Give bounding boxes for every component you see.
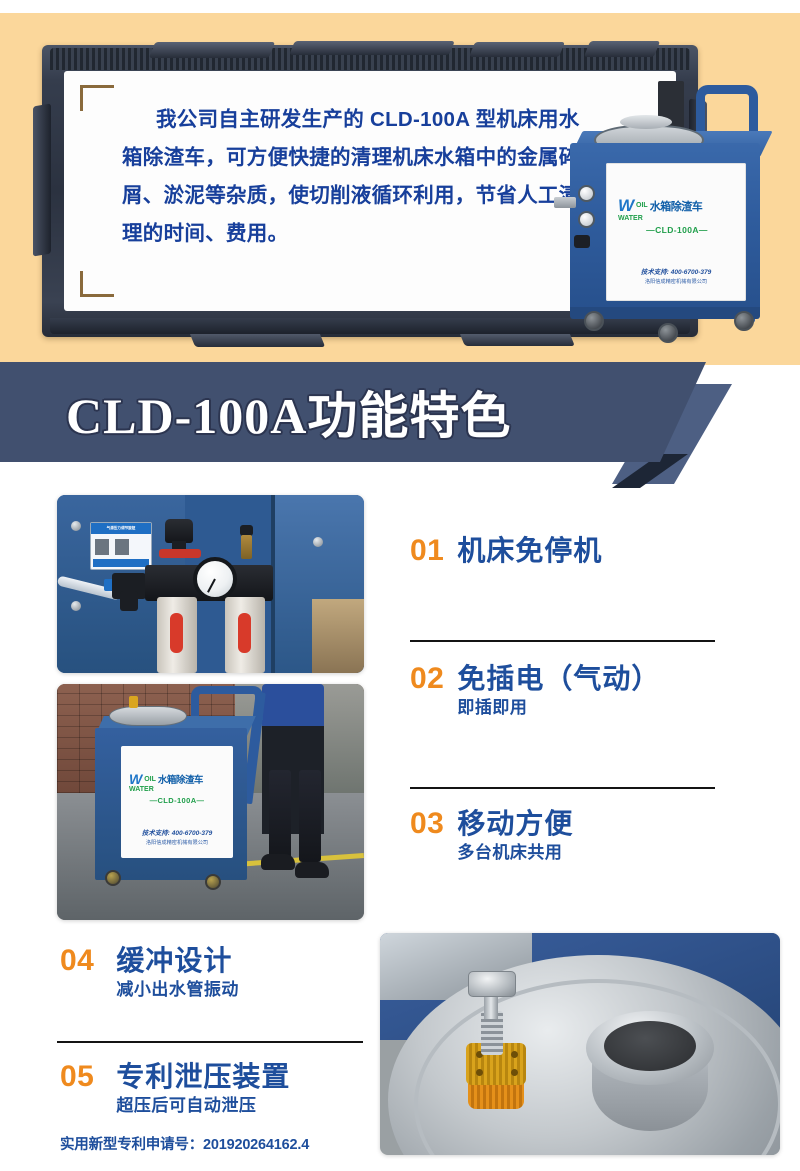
machine-brand-label: W OIL 水箱除渣车 WATER CLD-100A 技术支持: 400-670… bbox=[606, 163, 746, 301]
instruction-sticker: 气源压力调节旋钮 bbox=[90, 522, 152, 570]
section-title-banner: CLD-100A功能特色 bbox=[0, 362, 800, 484]
tank-lid-cap bbox=[620, 115, 672, 129]
support-phone-text: 技术支持: 400-6700-379 bbox=[606, 266, 746, 276]
frame-greeble-icon bbox=[149, 42, 275, 58]
feature-title: 移动方便 bbox=[457, 809, 573, 838]
pressure-gauge-icon bbox=[578, 211, 595, 228]
features-section: 气源压力调节旋钮 bbox=[0, 484, 800, 1171]
pressure-gauge-icon bbox=[578, 185, 595, 202]
frame-greeble-icon bbox=[584, 41, 660, 57]
frame-greeble-icon bbox=[189, 331, 325, 347]
caster-wheel-icon bbox=[205, 874, 221, 890]
logo-oil-text: OIL bbox=[636, 202, 648, 209]
valve-port-hole bbox=[511, 1051, 518, 1058]
machine-support-block: 技术支持: 400-6700-379 洛阳信成精密机械有限公司 bbox=[121, 827, 233, 846]
brand-logo: W OIL 水箱除渣车 WATER CLD-100A bbox=[129, 772, 225, 805]
caster-wheel-icon bbox=[658, 323, 678, 343]
logo-chinese-text: 水箱除渣车 bbox=[158, 772, 203, 786]
worker-leg bbox=[269, 770, 291, 862]
feature-subtitle: 超压后可自动泄压 bbox=[116, 1091, 290, 1116]
hero-description: 我公司自主研发生产的 CLD-100A 型机床用水箱除渣车，可方便快捷的清理机床… bbox=[122, 101, 592, 253]
caster-wheel-icon bbox=[105, 870, 121, 886]
panel-bolt-icon bbox=[71, 601, 81, 611]
machine-model-text: CLD-100A bbox=[129, 796, 225, 805]
outlet-nozzle bbox=[554, 197, 576, 208]
brass-valve bbox=[241, 535, 252, 559]
feature-number: 05 bbox=[60, 1062, 94, 1092]
pressure-gauge-icon bbox=[193, 557, 237, 601]
feature-divider bbox=[57, 1041, 363, 1043]
relief-valve-knob-icon bbox=[129, 696, 138, 708]
feature-title: 专利泄压装置 bbox=[116, 1062, 290, 1091]
feature-title: 机床免停机 bbox=[457, 536, 602, 565]
frame-greeble-icon bbox=[469, 42, 565, 57]
feature-item-05: 05 专利泄压装置 超压后可自动泄压 bbox=[60, 1062, 290, 1116]
background-floor bbox=[312, 599, 364, 673]
machine-support-block: 技术支持: 400-6700-379 洛阳信成精密机械有限公司 bbox=[606, 266, 746, 285]
caster-wheel-icon bbox=[734, 311, 754, 331]
feature-item-02: 02 免插电（气动） 即插即用 bbox=[410, 664, 660, 718]
feature-number: 03 bbox=[410, 809, 444, 839]
sticker-icon bbox=[95, 539, 109, 555]
photo-machine-on-floor: W OIL 水箱除渣车 WATER CLD-100A 技术支持: 400-670… bbox=[57, 684, 364, 920]
feature-subtitle: 多台机床共用 bbox=[457, 838, 573, 863]
feature-item-04: 04 缓冲设计 减小出水管振动 bbox=[60, 946, 239, 1000]
logo-w-text: W bbox=[618, 197, 634, 214]
filter-bowl bbox=[225, 597, 265, 673]
valve-port-hole bbox=[511, 1069, 518, 1076]
feature-number: 01 bbox=[410, 536, 444, 566]
worker-leg bbox=[299, 770, 321, 862]
valve-port-hole bbox=[476, 1069, 483, 1076]
feature-title: 免插电（气动） bbox=[457, 664, 660, 693]
logo-water-text: WATER bbox=[129, 786, 225, 793]
logo-chinese-text: 水箱除渣车 bbox=[650, 198, 703, 214]
patent-application-note: 实用新型专利申请号：201920264162.4 bbox=[60, 1133, 309, 1154]
panel-bolt-icon bbox=[313, 537, 323, 547]
logo-w-text: W bbox=[129, 772, 142, 786]
company-name-text: 洛阳信成精密机械有限公司 bbox=[121, 839, 233, 846]
feature-item-03: 03 移动方便 多台机床共用 bbox=[410, 809, 573, 863]
machine-model-text: CLD-100A bbox=[618, 225, 736, 235]
worker-shoe bbox=[295, 862, 329, 878]
photo-regulator: 气源压力调节旋钮 bbox=[57, 495, 364, 673]
product-feature-page: 我公司自主研发生产的 CLD-100A 型机床用水箱除渣车，可方便快捷的清理机床… bbox=[0, 0, 800, 1171]
feature-divider bbox=[410, 787, 715, 789]
company-name-text: 洛阳信成精密机械有限公司 bbox=[606, 278, 746, 285]
photo-relief-valve bbox=[380, 933, 780, 1155]
sticker-icon bbox=[115, 539, 129, 555]
feature-item-01: 01 机床免停机 bbox=[410, 536, 602, 566]
camlock-fitting-bore bbox=[604, 1021, 696, 1071]
machine-brand-label: W OIL 水箱除渣车 WATER CLD-100A 技术支持: 400-670… bbox=[121, 746, 233, 858]
brand-logo: W OIL 水箱除渣车 WATER CLD-100A bbox=[618, 197, 736, 235]
hero-section: 我公司自主研发生产的 CLD-100A 型机床用水箱除渣车，可方便快捷的清理机床… bbox=[0, 13, 800, 365]
support-phone-text: 技术支持: 400-6700-379 bbox=[121, 827, 233, 837]
feature-subtitle: 减小出水管振动 bbox=[116, 975, 239, 1000]
hero-product-photo: W OIL 水箱除渣车 WATER CLD-100A 技术支持: 400-670… bbox=[548, 85, 798, 365]
logo-oil-text: OIL bbox=[144, 776, 156, 783]
regulator-red-ring bbox=[159, 549, 201, 558]
corner-bracket-icon bbox=[80, 85, 114, 111]
logo-water-text: WATER bbox=[618, 215, 736, 222]
section-title: CLD-100A功能特色 bbox=[66, 376, 511, 448]
frame-greeble-icon bbox=[289, 41, 455, 55]
feature-divider bbox=[410, 640, 715, 642]
feature-subtitle: 即插即用 bbox=[457, 693, 660, 718]
corner-bracket-icon bbox=[80, 271, 114, 297]
feature-number: 02 bbox=[410, 664, 444, 694]
caster-wheel-icon bbox=[584, 311, 604, 331]
thumbscrew-head-icon bbox=[468, 971, 516, 997]
feature-title: 缓冲设计 bbox=[116, 946, 239, 975]
tank-lid bbox=[109, 706, 187, 726]
push-fitting bbox=[120, 591, 138, 611]
filter-bowl bbox=[157, 597, 197, 673]
adjust-knob-icon bbox=[165, 519, 193, 543]
frame-greeble-icon bbox=[33, 103, 51, 256]
feature-number: 04 bbox=[60, 946, 94, 976]
worker-shoe bbox=[261, 854, 295, 870]
control-knob-icon bbox=[574, 235, 590, 248]
sticker-title: 气源压力调节旋钮 bbox=[91, 523, 151, 534]
panel-bolt-icon bbox=[71, 521, 81, 531]
